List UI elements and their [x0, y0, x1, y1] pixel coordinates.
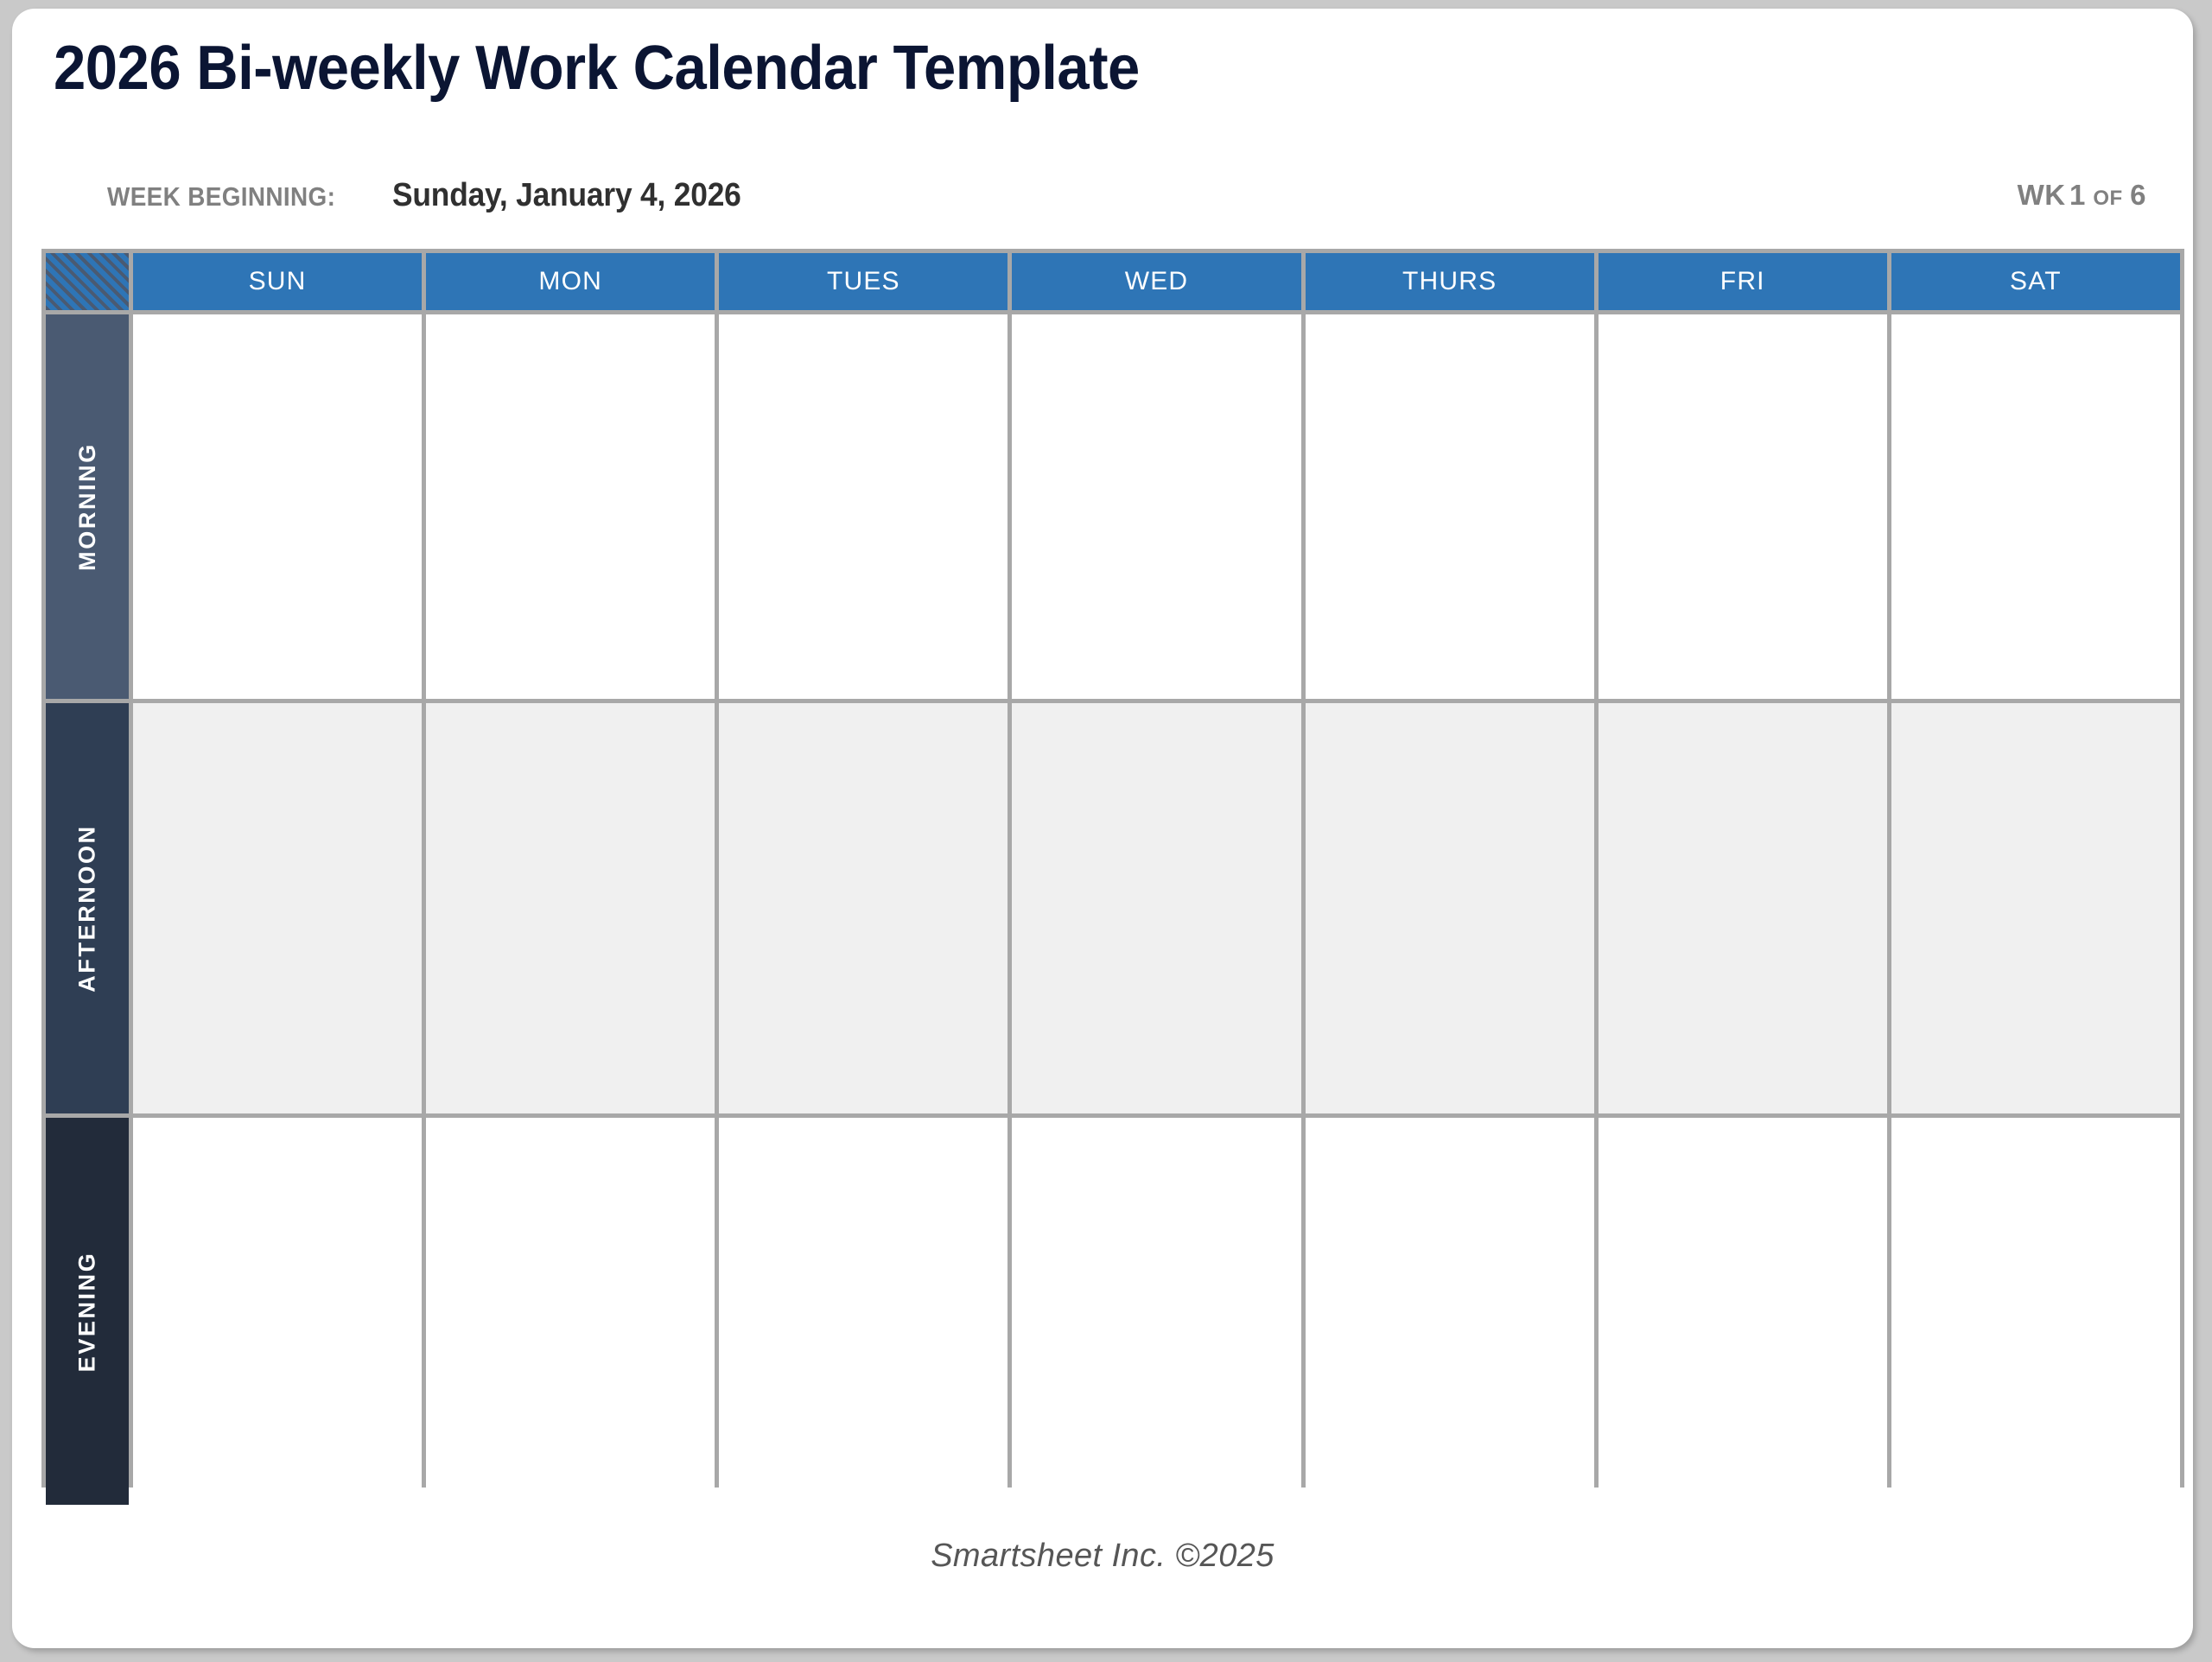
cell-morning-mon[interactable]	[426, 314, 715, 699]
day-header-fri: FRI	[1599, 253, 1887, 310]
cell-afternoon-mon[interactable]	[426, 703, 715, 1113]
cell-afternoon-thurs[interactable]	[1306, 703, 1594, 1113]
page-title: 2026 Bi-weekly Work Calendar Template	[54, 33, 1140, 104]
calendar-sheet: 2026 Bi-weekly Work Calendar Template WE…	[12, 9, 2193, 1648]
day-header-tues: TUES	[719, 253, 1007, 310]
period-label-evening-text: EVENING	[74, 1251, 101, 1372]
page-canvas: 2026 Bi-weekly Work Calendar Template WE…	[0, 0, 2212, 1662]
period-label-evening: EVENING	[46, 1118, 129, 1505]
cell-evening-wed[interactable]	[1012, 1118, 1300, 1505]
cell-afternoon-sat[interactable]	[1891, 703, 2180, 1113]
period-label-morning-text: MORNING	[74, 442, 101, 571]
cell-afternoon-fri[interactable]	[1599, 703, 1887, 1113]
cell-afternoon-tues[interactable]	[719, 703, 1007, 1113]
cell-evening-sat[interactable]	[1891, 1118, 2180, 1505]
week-prefix: WK	[2018, 179, 2066, 211]
calendar-grid: SUN MON TUES WED THURS FRI SAT MORNING A…	[41, 249, 2184, 1488]
footer-copyright: Smartsheet Inc. ©2025	[12, 1538, 2193, 1575]
cell-morning-sun[interactable]	[133, 314, 422, 699]
meta-row: WEEK BEGINNING: Sunday, January 4, 2026 …	[54, 177, 2162, 227]
cell-morning-tues[interactable]	[719, 314, 1007, 699]
hatched-corner-cell	[46, 253, 129, 310]
period-label-morning: MORNING	[46, 314, 129, 699]
week-of-label: OF	[2093, 187, 2122, 210]
day-header-sun: SUN	[133, 253, 422, 310]
cell-evening-sun[interactable]	[133, 1118, 422, 1505]
cell-morning-wed[interactable]	[1012, 314, 1300, 699]
cell-morning-thurs[interactable]	[1306, 314, 1594, 699]
cell-evening-tues[interactable]	[719, 1118, 1007, 1505]
cell-afternoon-sun[interactable]	[133, 703, 422, 1113]
week-total: 6	[2130, 179, 2146, 211]
day-header-sat: SAT	[1891, 253, 2180, 310]
cell-evening-fri[interactable]	[1599, 1118, 1887, 1505]
cell-afternoon-wed[interactable]	[1012, 703, 1300, 1113]
period-label-afternoon: AFTERNOON	[46, 703, 129, 1113]
period-label-afternoon-text: AFTERNOON	[74, 824, 101, 992]
week-number: 1	[2069, 179, 2086, 211]
week-beginning-value[interactable]: Sunday, January 4, 2026	[392, 177, 741, 214]
week-counter: WK 1 OF 6	[2018, 179, 2146, 212]
day-header-mon: MON	[426, 253, 715, 310]
day-header-thurs: THURS	[1306, 253, 1594, 310]
week-beginning-group: WEEK BEGINNING: Sunday, January 4, 2026	[107, 177, 767, 214]
day-header-wed: WED	[1012, 253, 1300, 310]
cell-morning-sat[interactable]	[1891, 314, 2180, 699]
cell-evening-thurs[interactable]	[1306, 1118, 1594, 1505]
week-beginning-label: WEEK BEGINNING:	[107, 181, 335, 213]
cell-evening-mon[interactable]	[426, 1118, 715, 1505]
cell-morning-fri[interactable]	[1599, 314, 1887, 699]
